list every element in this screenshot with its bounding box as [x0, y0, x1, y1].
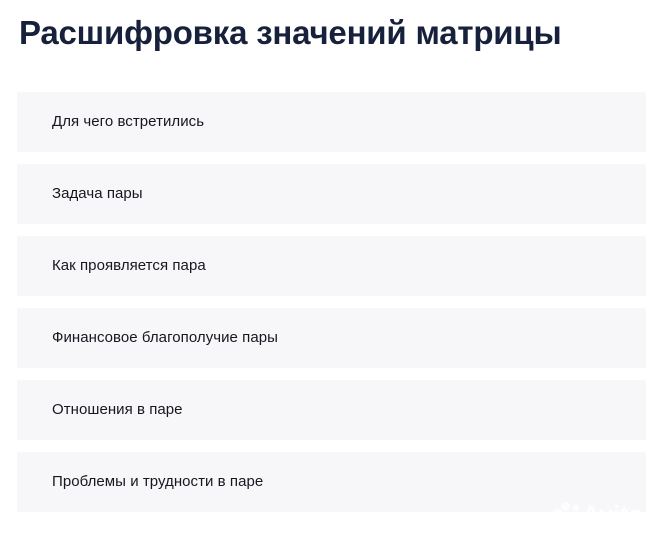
- page-root: Расшифровка значений матрицы Для чего вс…: [0, 0, 659, 540]
- list-item[interactable]: Как проявляется пара: [17, 236, 646, 296]
- list-item[interactable]: Для чего встретились: [17, 92, 646, 152]
- list-item-label: Задача пары: [17, 184, 143, 204]
- list-item-label: Как проявляется пара: [17, 256, 206, 276]
- list-item-label: Отношения в паре: [17, 400, 183, 420]
- list-item[interactable]: Финансовое благополучие пары: [17, 308, 646, 368]
- matrix-meanings-list: Для чего встретились Задача пары Как про…: [17, 92, 646, 512]
- list-item[interactable]: Отношения в паре: [17, 380, 646, 440]
- list-item[interactable]: Проблемы и трудности в паре: [17, 452, 646, 512]
- list-item-label: Финансовое благополучие пары: [17, 328, 278, 348]
- list-item[interactable]: Задача пары: [17, 164, 646, 224]
- list-item-label: Для чего встретились: [17, 112, 204, 132]
- list-item-label: Проблемы и трудности в паре: [17, 472, 263, 492]
- page-title: Расшифровка значений матрицы: [19, 13, 649, 53]
